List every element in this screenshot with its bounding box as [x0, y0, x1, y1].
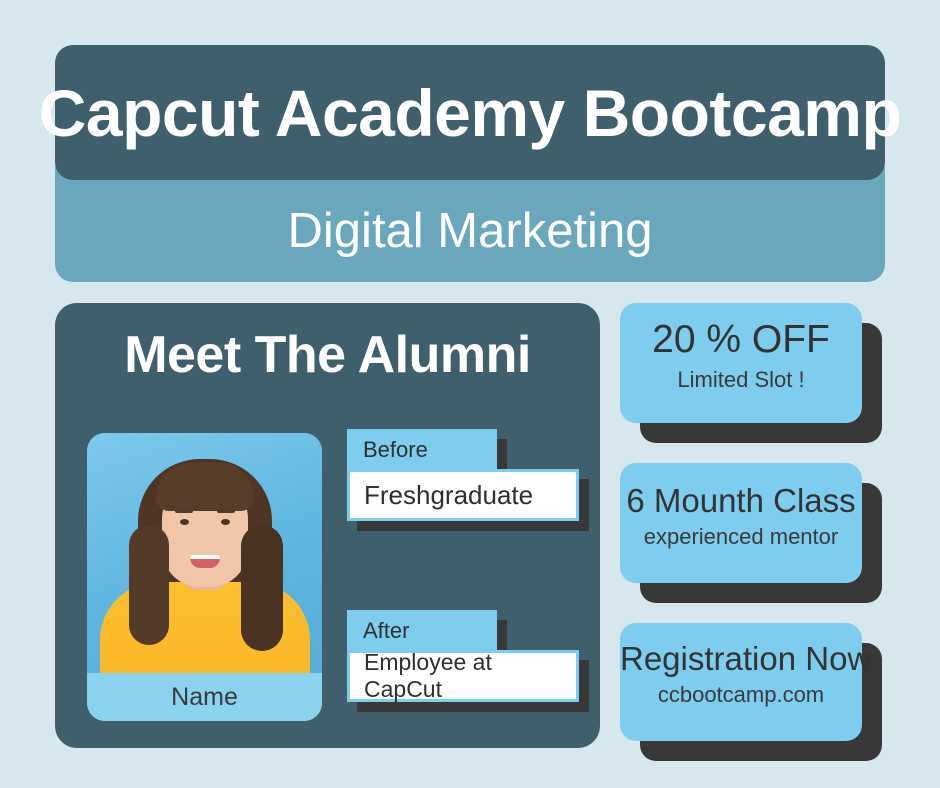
- before-value-wrap: Freshgraduate: [347, 469, 579, 521]
- after-value-wrap: Employee at CapCut: [347, 650, 579, 702]
- header-title-bar: Capcut Academy Bootcamp: [55, 45, 885, 180]
- after-tab-label: After: [347, 610, 497, 652]
- offer-card-registration[interactable]: Registration Now ccbootcamp.com: [620, 623, 862, 741]
- eyebrow-right-shape: [217, 509, 235, 513]
- alumni-name-label: Name: [87, 673, 322, 721]
- offer-card-discount[interactable]: 20 % OFF Limited Slot !: [620, 303, 862, 423]
- eye-left-shape: [180, 519, 189, 525]
- before-group: Before Freshgraduate: [347, 429, 579, 521]
- eyebrow-left-shape: [175, 509, 193, 513]
- header-block: Capcut Academy Bootcamp Digital Marketin…: [55, 45, 885, 282]
- mouth-shape: [190, 555, 220, 568]
- offer-card-duration[interactable]: 6 Mounth Class experienced mentor: [620, 463, 862, 583]
- alumni-photo-card: Name: [87, 433, 322, 721]
- alumni-heading: Meet The Alumni: [55, 329, 600, 381]
- offer-card-1-title: 20 % OFF: [620, 319, 862, 362]
- hair-curl-left-shape: [129, 525, 169, 645]
- before-tab-label: Before: [347, 429, 497, 471]
- after-value-field[interactable]: Employee at CapCut: [347, 650, 579, 702]
- offer-card-3-title: Registration Now: [620, 641, 862, 677]
- offer-card-1-subtitle: Limited Slot !: [620, 368, 862, 392]
- hair-curl-right-shape: [241, 525, 283, 651]
- offer-card-3-subtitle: ccbootcamp.com: [620, 683, 862, 707]
- page-subtitle: Digital Marketing: [288, 207, 653, 256]
- offer-card-2-subtitle: experienced mentor: [620, 525, 862, 549]
- hair-front-shape: [156, 463, 254, 511]
- offer-card-2-title: 6 Mounth Class: [620, 483, 862, 519]
- before-value-field[interactable]: Freshgraduate: [347, 469, 579, 521]
- page-title: Capcut Academy Bootcamp: [39, 80, 902, 146]
- eye-right-shape: [221, 519, 230, 525]
- alumni-panel: Meet The Alumni Name Before Freshgraduat…: [55, 303, 600, 748]
- after-group: After Employee at CapCut: [347, 610, 579, 702]
- alumni-portrait-photo: [87, 433, 322, 676]
